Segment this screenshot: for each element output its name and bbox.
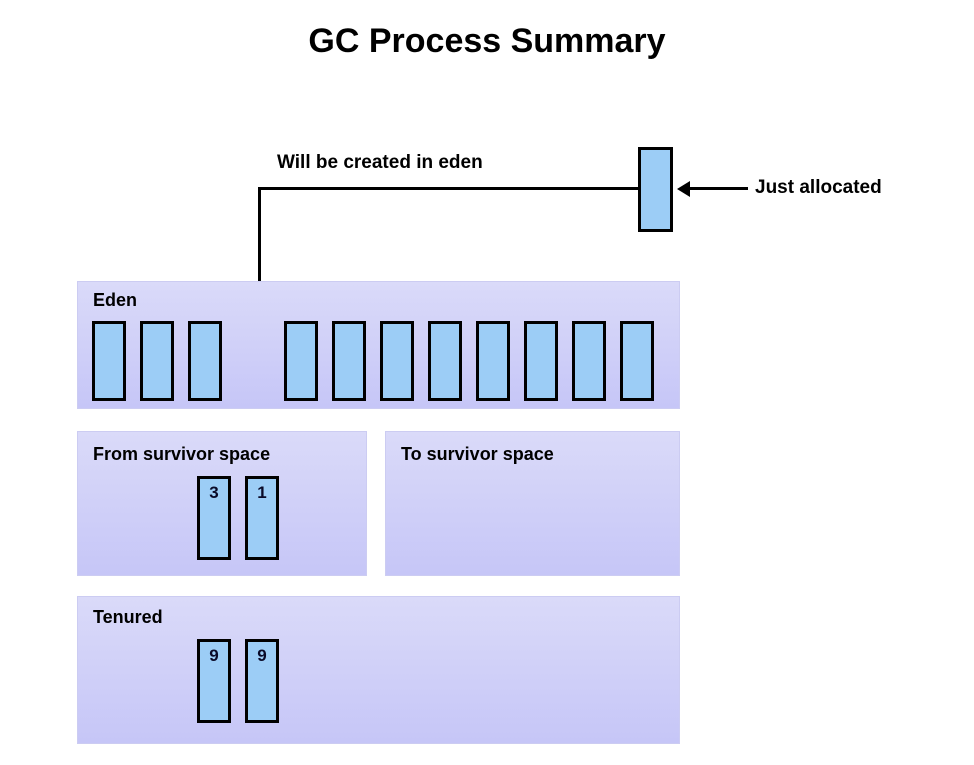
region-from-survivor-space-label: From survivor space [93, 444, 270, 465]
eden-object-block [476, 321, 510, 401]
eden-object-block [572, 321, 606, 401]
region-to-survivor-space: To survivor space [385, 431, 680, 576]
eden-object-block [620, 321, 654, 401]
eden-object-block [188, 321, 222, 401]
eden-object-block [524, 321, 558, 401]
region-eden-label: Eden [93, 290, 137, 311]
region-to-survivor-space-label: To survivor space [401, 444, 554, 465]
eden-object-block [332, 321, 366, 401]
eden-object-block [284, 321, 318, 401]
region-tenured: Tenured 9 9 [77, 596, 680, 744]
eden-object-block [428, 321, 462, 401]
just-allocated-connector-line [690, 187, 748, 190]
region-from-survivor-space: From survivor space 3 1 [77, 431, 367, 576]
page-title: GC Process Summary [0, 22, 974, 61]
eden-object-block [380, 321, 414, 401]
just-allocated-arrowhead-icon [677, 181, 690, 197]
allocated-object-block [638, 147, 673, 232]
survivor-object-block: 1 [245, 476, 279, 560]
eden-object-block [140, 321, 174, 401]
survivor-object-block: 3 [197, 476, 231, 560]
tenured-object-block: 9 [197, 639, 231, 723]
eden-object-block [92, 321, 126, 401]
region-tenured-label: Tenured [93, 607, 163, 628]
tenured-object-block: 9 [245, 639, 279, 723]
annotation-will-be-created-in-eden: Will be created in eden [277, 152, 483, 174]
annotation-just-allocated: Just allocated [755, 177, 882, 199]
eden-connector-horizontal [258, 187, 640, 190]
region-eden: Eden [77, 281, 680, 409]
